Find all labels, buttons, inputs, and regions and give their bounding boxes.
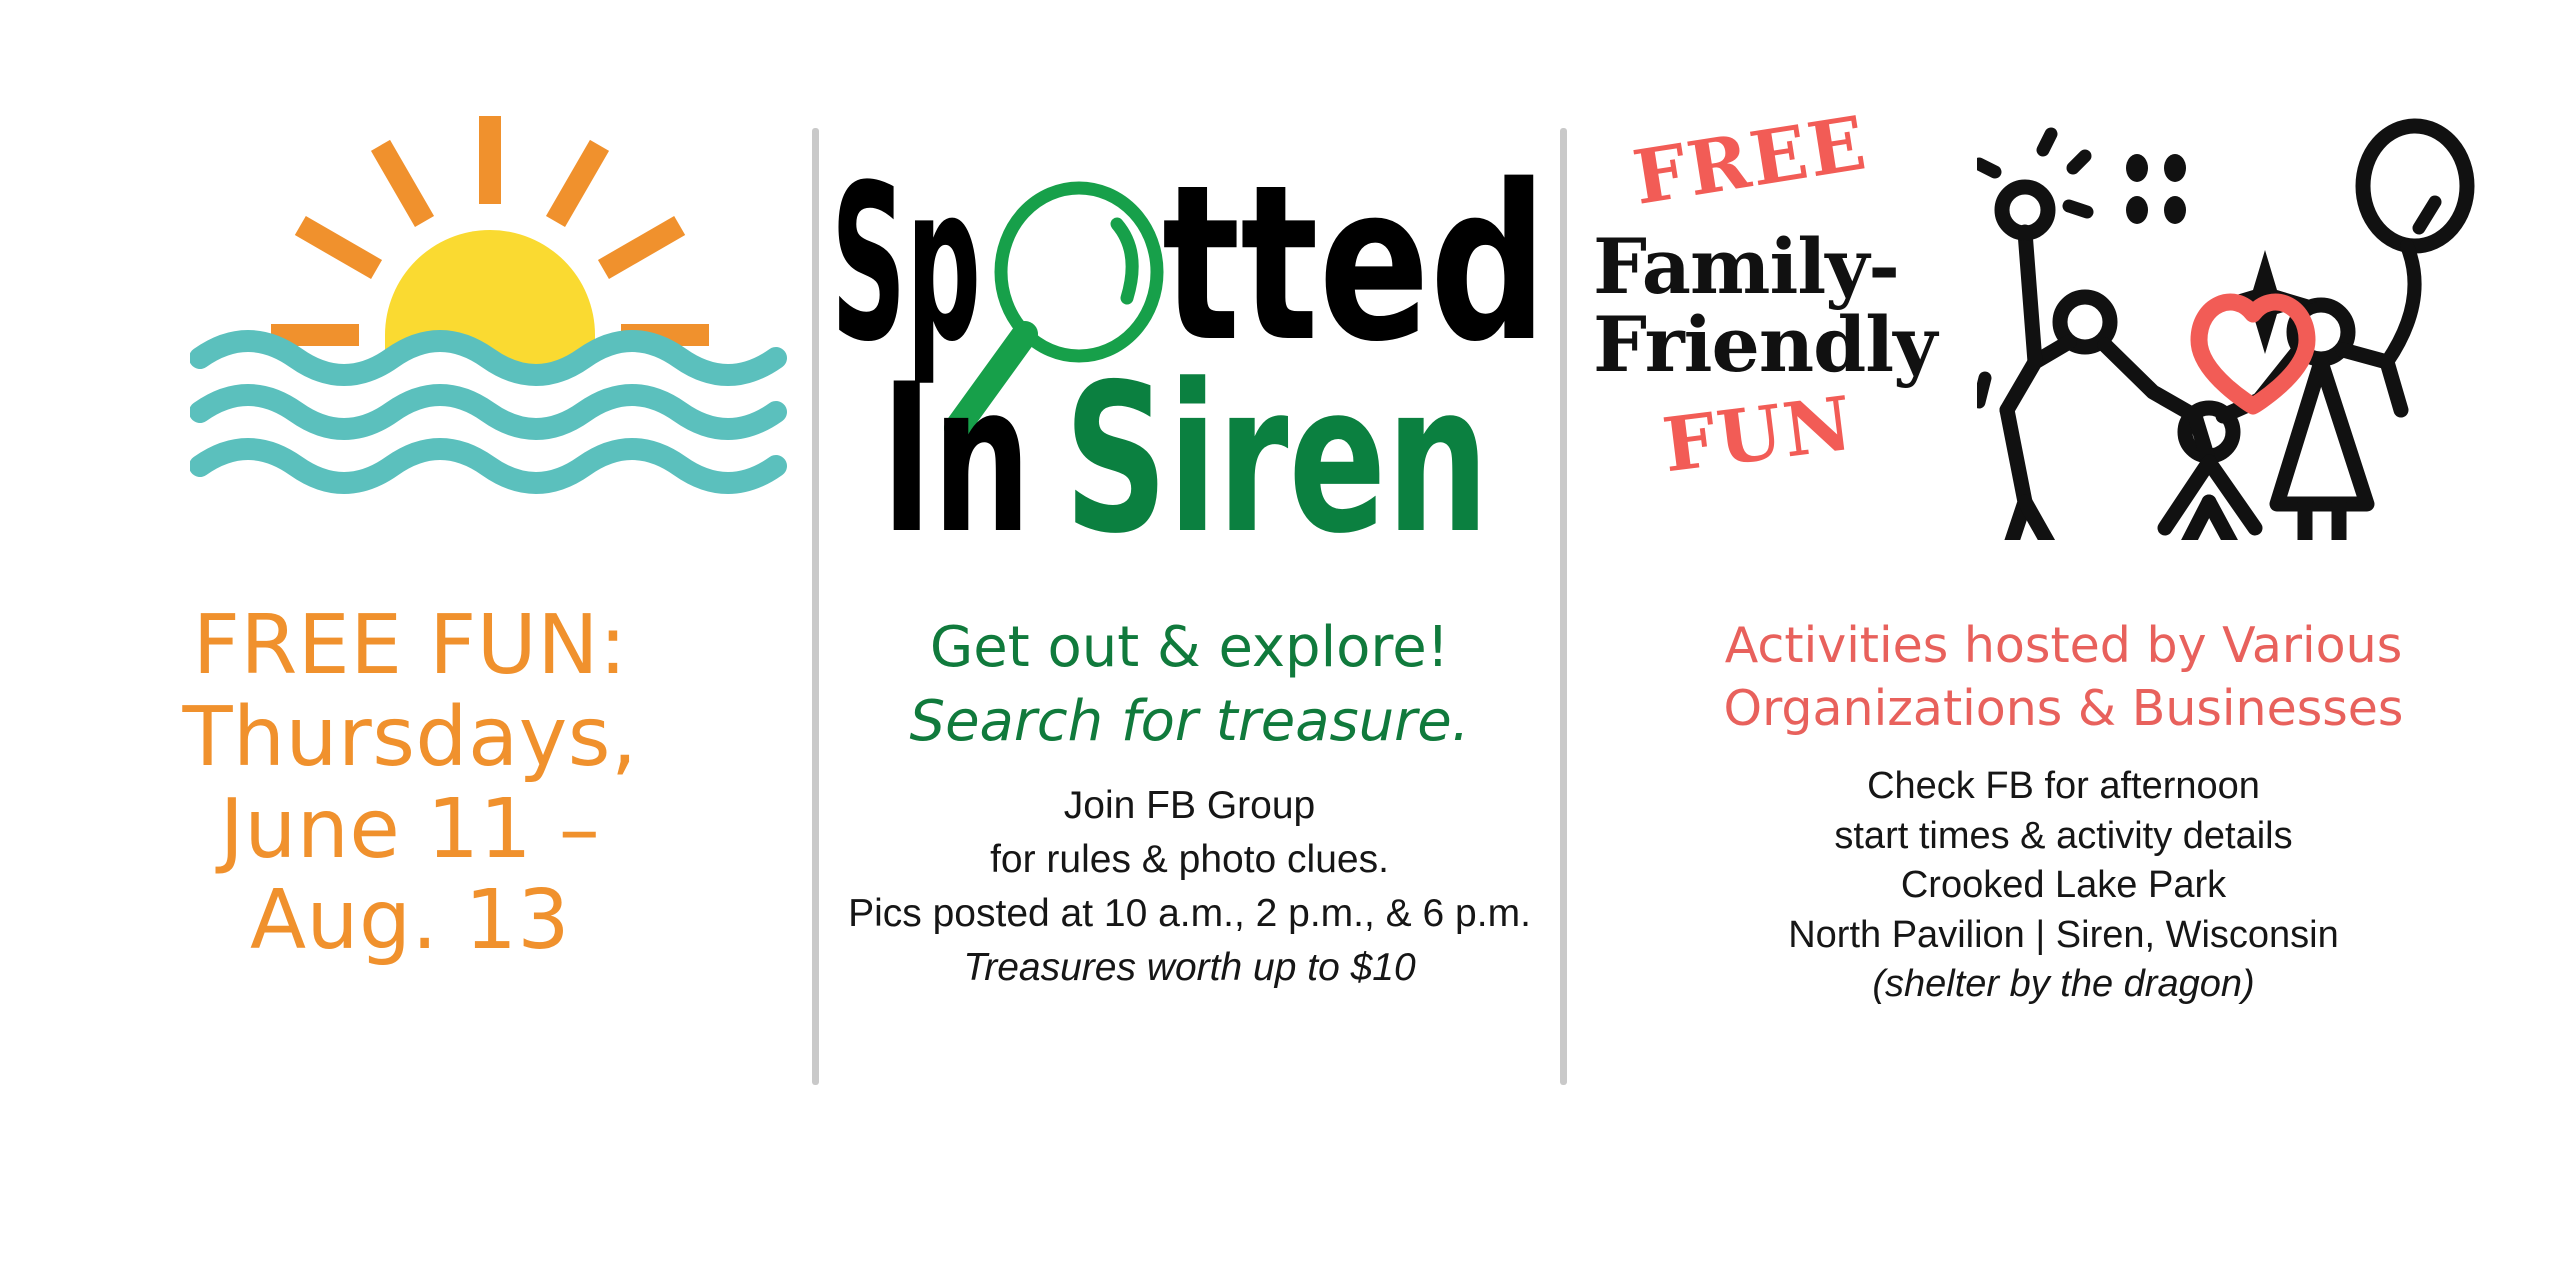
left-line-2: Thursdays, bbox=[40, 692, 780, 784]
center-footnote: Treasures worth up to $10 bbox=[819, 943, 1560, 993]
right-detail-3: Crooked Lake Park bbox=[1567, 861, 2560, 910]
spotted-in-siren-logo: Sp tted In Siren bbox=[829, 120, 1549, 540]
left-line-1: FREE FUN: bbox=[40, 600, 780, 692]
center-panel-text: Get out & explore! Search for treasure. … bbox=[819, 615, 1560, 993]
word-family-line-1: Family- bbox=[1593, 228, 1936, 306]
right-detail-1: Check FB for afternoon bbox=[1567, 762, 2560, 811]
left-line-3: June 11 – bbox=[40, 784, 780, 876]
logo-word-siren: Siren bbox=[1064, 341, 1489, 540]
left-panel-text: FREE FUN: Thursdays, June 11 – Aug. 13 bbox=[40, 600, 780, 967]
panel-divider-left bbox=[812, 128, 819, 1085]
logo-word-in: In bbox=[881, 341, 1031, 540]
center-headline-1: Get out & explore! bbox=[819, 615, 1560, 681]
word-free: FREE bbox=[1628, 100, 1873, 222]
center-detail-1: Join FB Group bbox=[819, 781, 1560, 831]
four-dot-cluster-icon bbox=[2126, 154, 2186, 224]
family-stick-figures-icon bbox=[1977, 110, 2537, 540]
right-headline-2: Organizations & Businesses bbox=[1567, 678, 2560, 741]
word-fun: FUN bbox=[1658, 381, 1858, 490]
left-line-4: Aug. 13 bbox=[40, 875, 780, 967]
left-panel: FREE FUN: Thursdays, June 11 – Aug. 13 bbox=[0, 0, 812, 1280]
free-family-friendly-fun-art: FREE Family- Friendly FUN bbox=[1587, 110, 2537, 560]
center-headline-2: Search for treasure. bbox=[819, 689, 1560, 755]
panel-divider-right bbox=[1560, 128, 1567, 1085]
right-headline-1: Activities hosted by Various bbox=[1567, 615, 2560, 678]
word-family-friendly: Family- Friendly bbox=[1593, 228, 1936, 383]
center-detail-3: Pics posted at 10 a.m., 2 p.m., & 6 p.m. bbox=[819, 889, 1560, 939]
water-waves-icon bbox=[200, 341, 776, 483]
word-family-line-2: Friendly bbox=[1593, 306, 1936, 384]
right-panel-text: Activities hosted by Various Organizatio… bbox=[1567, 615, 2560, 1009]
sun-disc-icon bbox=[385, 230, 595, 335]
right-footnote: (shelter by the dragon) bbox=[1567, 960, 2560, 1009]
right-detail-2: start times & activity details bbox=[1567, 812, 2560, 861]
right-detail-4: North Pavilion | Siren, Wisconsin bbox=[1567, 911, 2560, 960]
center-panel: Sp tted In Siren Get out & explore! Sear… bbox=[819, 0, 1560, 1280]
flyer-canvas: FREE FUN: Thursdays, June 11 – Aug. 13 S… bbox=[0, 0, 2560, 1280]
sunrise-over-water-logo bbox=[190, 110, 790, 570]
pinwheel-icon bbox=[2002, 187, 2048, 233]
right-panel: FREE Family- Friendly FUN bbox=[1567, 0, 2560, 1280]
center-detail-2: for rules & photo clues. bbox=[819, 835, 1560, 885]
